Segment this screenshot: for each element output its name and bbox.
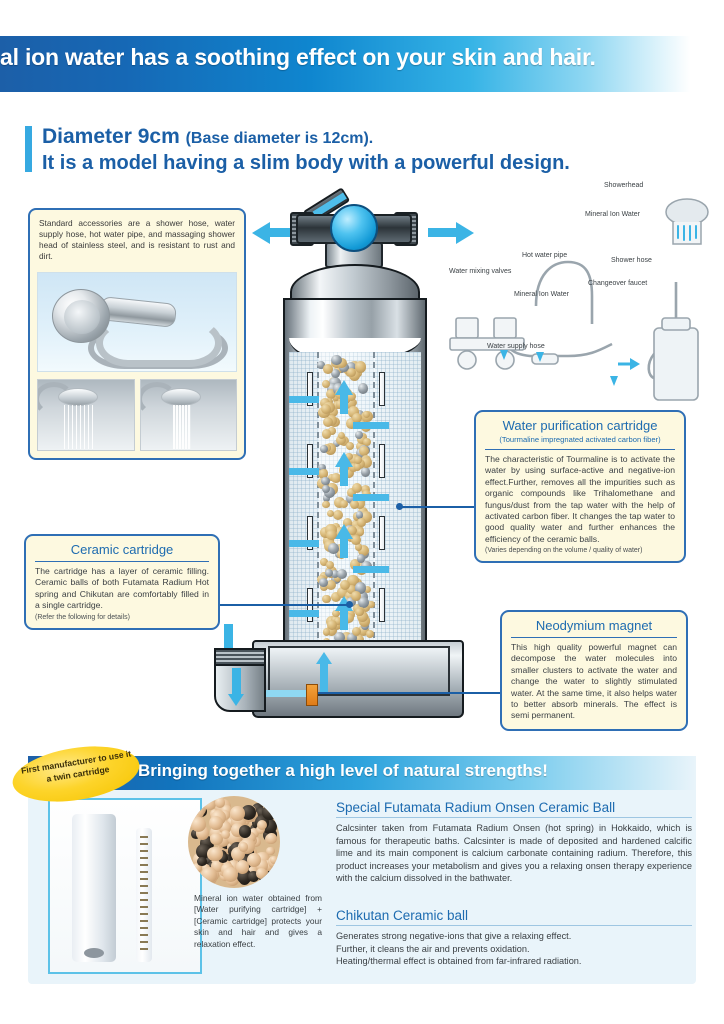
- ceramic-ball: [326, 561, 334, 569]
- headline-main: Diameter 9cm: [42, 125, 180, 148]
- cartridge-caption: Mineral ion water obtained from [Water p…: [194, 893, 322, 950]
- callout-water-purification-cartridge: Water purification cartridge (Tourmaline…: [474, 410, 686, 563]
- futamata-ceramic-ball: [203, 798, 215, 810]
- neodymium-magnet-bar: [379, 588, 385, 622]
- futamata-ceramic-ball: [239, 842, 248, 851]
- water-flow-line: [353, 566, 389, 573]
- futamata-ceramic-ball: [215, 797, 226, 808]
- device-base-inner: [268, 646, 450, 696]
- section-futamata-ceramic-ball: Special Futamata Radium Onsen Ceramic Ba…: [336, 800, 692, 885]
- ceramic-ball: [357, 528, 364, 535]
- ceramic-balls-photo: [188, 796, 280, 888]
- futamata-ceramic-ball: [209, 816, 223, 830]
- leader-line-ceramic-cartridge: [220, 604, 350, 606]
- inlet-water-shaft: [232, 668, 241, 696]
- headline-line-2: It is a model having a slim body with a …: [42, 151, 602, 176]
- futamata-ceramic-ball: [266, 833, 277, 844]
- spray-pattern-jet: [173, 405, 191, 449]
- water-flow-line: [289, 468, 319, 475]
- ceramic-ball: [357, 518, 366, 527]
- water-flow-up-shaft: [340, 538, 348, 558]
- base-flow-channel: [266, 690, 308, 697]
- ceramic-ball: [347, 368, 357, 378]
- callout-body: The cartridge has a layer of ceramic fil…: [35, 566, 209, 612]
- showerhead-photo: [37, 272, 237, 372]
- water-flow-line: [289, 610, 319, 617]
- accessories-text: Standard accessories are a shower hose, …: [39, 218, 235, 262]
- neodymium-magnet-bar: [379, 372, 385, 406]
- neodymium-magnet-bar: [379, 444, 385, 478]
- ceramic-cartridge-beads: [140, 836, 148, 954]
- callout-subtitle: (Tourmaline impregnated activated carbon…: [485, 435, 675, 447]
- callout-neodymium-magnet: Neodymium magnet This high quality power…: [500, 610, 688, 731]
- section-body: Calcsinter taken from Futamata Radium On…: [336, 822, 692, 885]
- futamata-ceramic-ball: [201, 867, 216, 882]
- ceramic-ball: [354, 463, 362, 471]
- neodymium-magnet-bar: [379, 516, 385, 550]
- section-body: Generates strong negative-ions that give…: [336, 930, 692, 968]
- callout-title: Water purification cartridge: [485, 418, 675, 435]
- magnet-bead: [358, 383, 368, 393]
- callout-body: This high quality powerful magnet can de…: [511, 642, 677, 722]
- schematic-label-mineral-ion-water-top: Mineral Ion Water: [585, 211, 640, 218]
- futamata-ceramic-ball: [230, 806, 245, 821]
- magnet-bead: [320, 445, 328, 453]
- headline-line-1: Diameter 9cm (Base diameter is 12cm).: [42, 124, 602, 151]
- leader-line-water-cartridge: [400, 506, 476, 508]
- headline-sub: (Base diameter is 12cm).: [186, 130, 374, 147]
- callout-note: (Varies depending on the volume / qualit…: [485, 547, 675, 554]
- callout-body: The characteristic of Tourmaline is to a…: [485, 454, 675, 545]
- callout-divider: [485, 449, 675, 450]
- valve-ball: [330, 204, 378, 252]
- water-flow-line: [289, 396, 319, 403]
- ceramic-ball: [354, 456, 362, 464]
- futamata-ceramic-ball: [209, 847, 223, 861]
- water-flow-up-arrow-icon: [335, 524, 353, 539]
- callout-ceramic-cartridge: Ceramic cartridge The cartridge has a la…: [24, 534, 220, 630]
- showerhead-body: [52, 289, 110, 343]
- water-flow-up-shaft: [340, 466, 348, 486]
- futamata-ceramic-ball: [190, 803, 200, 813]
- ceramic-ball: [322, 501, 329, 508]
- leader-line-magnet: [318, 692, 500, 694]
- callout-title: Neodymium magnet: [511, 618, 677, 635]
- ceramic-ball: [346, 442, 354, 450]
- top-banner-text: al ion water has a soothing effect on yo…: [0, 44, 596, 71]
- callout-divider: [35, 561, 209, 562]
- neodymium-magnet-element: [306, 684, 318, 706]
- ceramic-ball: [323, 364, 333, 374]
- schematic-label-changeover-faucet: Changeover faucet: [588, 280, 647, 287]
- magnet-bead: [361, 467, 370, 476]
- magnet-bead: [355, 431, 363, 439]
- section-body-line-1: Generates strong negative-ions that give…: [336, 930, 692, 943]
- page-title: Diameter 9cm (Base diameter is 12cm). It…: [42, 124, 602, 176]
- section-title: Special Futamata Radium Onsen Ceramic Ba…: [336, 800, 692, 817]
- magnet-bead: [331, 355, 341, 365]
- showerhead-face: [64, 300, 100, 334]
- section-chikutan-ceramic-ball: Chikutan Ceramic ball Generates strong n…: [336, 908, 692, 968]
- callout-divider: [511, 637, 677, 638]
- chikutan-ceramic-ball: [197, 857, 206, 866]
- base-upflow-arrow-icon: [316, 652, 332, 664]
- section-divider: [336, 925, 692, 926]
- schematic-label-mineral-ion-water-mid: Mineral Ion Water: [514, 291, 569, 298]
- schematic-label-water-supply-hose: Water supply hose: [487, 343, 545, 350]
- magnet-bead: [321, 477, 330, 486]
- ceramic-ball: [352, 483, 362, 493]
- section-body-line-3: Heating/thermal effect is obtained from …: [336, 955, 692, 968]
- section-divider: [336, 817, 692, 818]
- brochure-page: al ion water has a soothing effect on yo…: [0, 0, 724, 1024]
- callout-title: Ceramic cartridge: [35, 542, 209, 559]
- section-title: Chikutan Ceramic ball: [336, 908, 692, 925]
- cartridge-core-hole: [84, 948, 104, 958]
- schematic-label-shower-hose: Shower hose: [611, 257, 652, 264]
- water-flow-line: [353, 422, 389, 429]
- futamata-ceramic-ball: [266, 847, 275, 856]
- chikutan-ceramic-ball: [239, 825, 251, 837]
- leader-dot-ceramic-cartridge: [346, 601, 353, 608]
- spray-pattern-rain: [64, 405, 94, 449]
- bottom-banner-text: Bringing together a high level of natura…: [138, 761, 548, 781]
- base-upflow-shaft: [320, 662, 328, 694]
- water-flow-line: [353, 494, 389, 501]
- leader-dot-water-cartridge: [396, 503, 403, 510]
- magnet-bead: [357, 554, 366, 563]
- ceramic-ball: [359, 446, 369, 456]
- mini-showerhead-1: [58, 388, 98, 406]
- top-banner: al ion water has a soothing effect on yo…: [0, 36, 690, 92]
- section-body-line-2: Further, it cleans the air and prevents …: [336, 943, 692, 956]
- schematic-label-water-mixing-valves: Water mixing valves: [449, 268, 511, 275]
- callout-note: (Refer the following for details): [35, 614, 209, 621]
- water-flow-up-shaft: [340, 394, 348, 414]
- ceramic-ball: [333, 510, 343, 520]
- futamata-ceramic-ball: [236, 860, 250, 874]
- magnet-bead: [325, 569, 333, 577]
- spray-photo-shower: [37, 379, 135, 451]
- water-flow-line: [289, 540, 319, 547]
- mini-showerhead-2: [161, 388, 201, 406]
- plumbing-schematic: [440, 178, 720, 418]
- inlet-thread: [214, 648, 266, 666]
- inlet-water-arrow-icon: [228, 694, 244, 706]
- schematic-label-showerhead: Showerhead: [604, 182, 643, 189]
- ceramic-ball: [355, 361, 366, 372]
- cartridge-photo: [48, 798, 202, 974]
- spray-photo-jet: [140, 379, 238, 451]
- futamata-ceramic-ball: [221, 830, 230, 839]
- ceramic-ball: [327, 510, 334, 517]
- water-flow-up-arrow-icon: [335, 452, 353, 467]
- headline-accent-bar: [25, 126, 32, 172]
- ceramic-ball: [323, 628, 330, 635]
- water-flow-up-arrow-icon: [335, 380, 353, 395]
- spray-mode-photos: [37, 379, 237, 451]
- water-purifying-cartridge-image: [72, 814, 116, 962]
- schematic-label-hot-water-pipe: Hot water pipe: [522, 252, 567, 259]
- magnet-bead: [319, 578, 328, 587]
- futamata-ceramic-ball: [260, 796, 271, 807]
- water-flow-up-shaft: [340, 610, 348, 630]
- chikutan-ceramic-ball: [268, 875, 278, 885]
